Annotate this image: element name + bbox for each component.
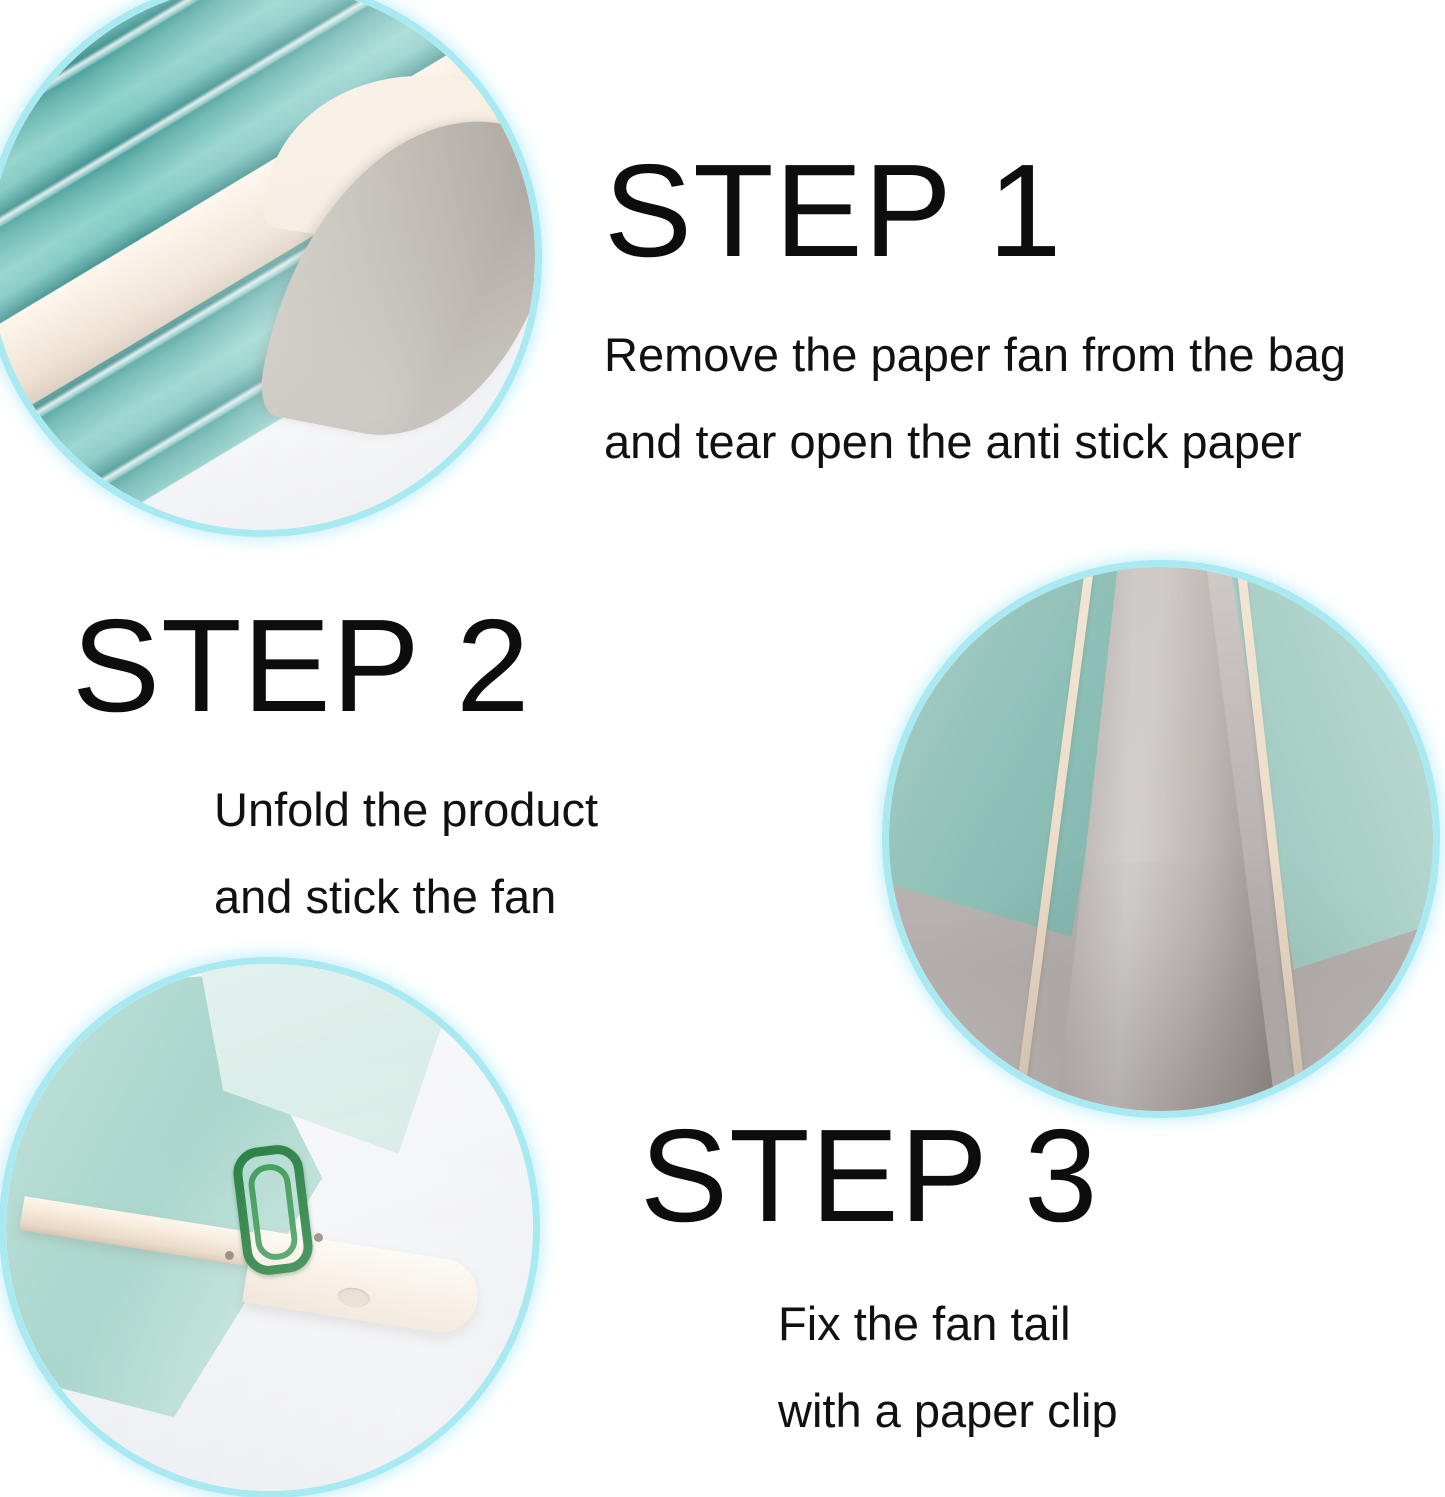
step-2-text-block: STEP 2 Unfold the product and stick the … [72, 600, 598, 941]
step-3-text-block: STEP 3 Fix the fan tail with a paper cli… [640, 1110, 1118, 1455]
step-1-photo [0, 0, 535, 530]
step-3-heading: STEP 3 [640, 1110, 1118, 1242]
step-2-body-line-2: and stick the fan [72, 853, 598, 940]
step-3-body-line-2: with a paper clip [640, 1367, 1118, 1454]
instruction-sheet: STEP 1 Remove the paper fan from the bag… [0, 0, 1445, 1497]
step-1-text-block: STEP 1 Remove the paper fan from the bag… [604, 145, 1346, 486]
step-1-heading: STEP 1 [604, 145, 1346, 277]
step-2-photo [889, 567, 1433, 1111]
step-1-body-line-2: and tear open the anti stick paper [604, 398, 1346, 485]
step-1-photo-inner [0, 0, 535, 530]
step-2-heading: STEP 2 [72, 600, 598, 732]
step-2-photo-inner [889, 567, 1433, 1111]
step-3-body-line-1: Fix the fan tail [640, 1280, 1118, 1367]
step-3-photo-inner [6, 964, 533, 1491]
step-1-body-line-1: Remove the paper fan from the bag [604, 311, 1346, 398]
photo-sheen [6, 964, 533, 1491]
step-2-body-line-1: Unfold the product [72, 766, 598, 853]
photo-sheen [0, 0, 535, 530]
cone-floor-shadow [889, 861, 1433, 1111]
step-3-photo [6, 964, 533, 1491]
